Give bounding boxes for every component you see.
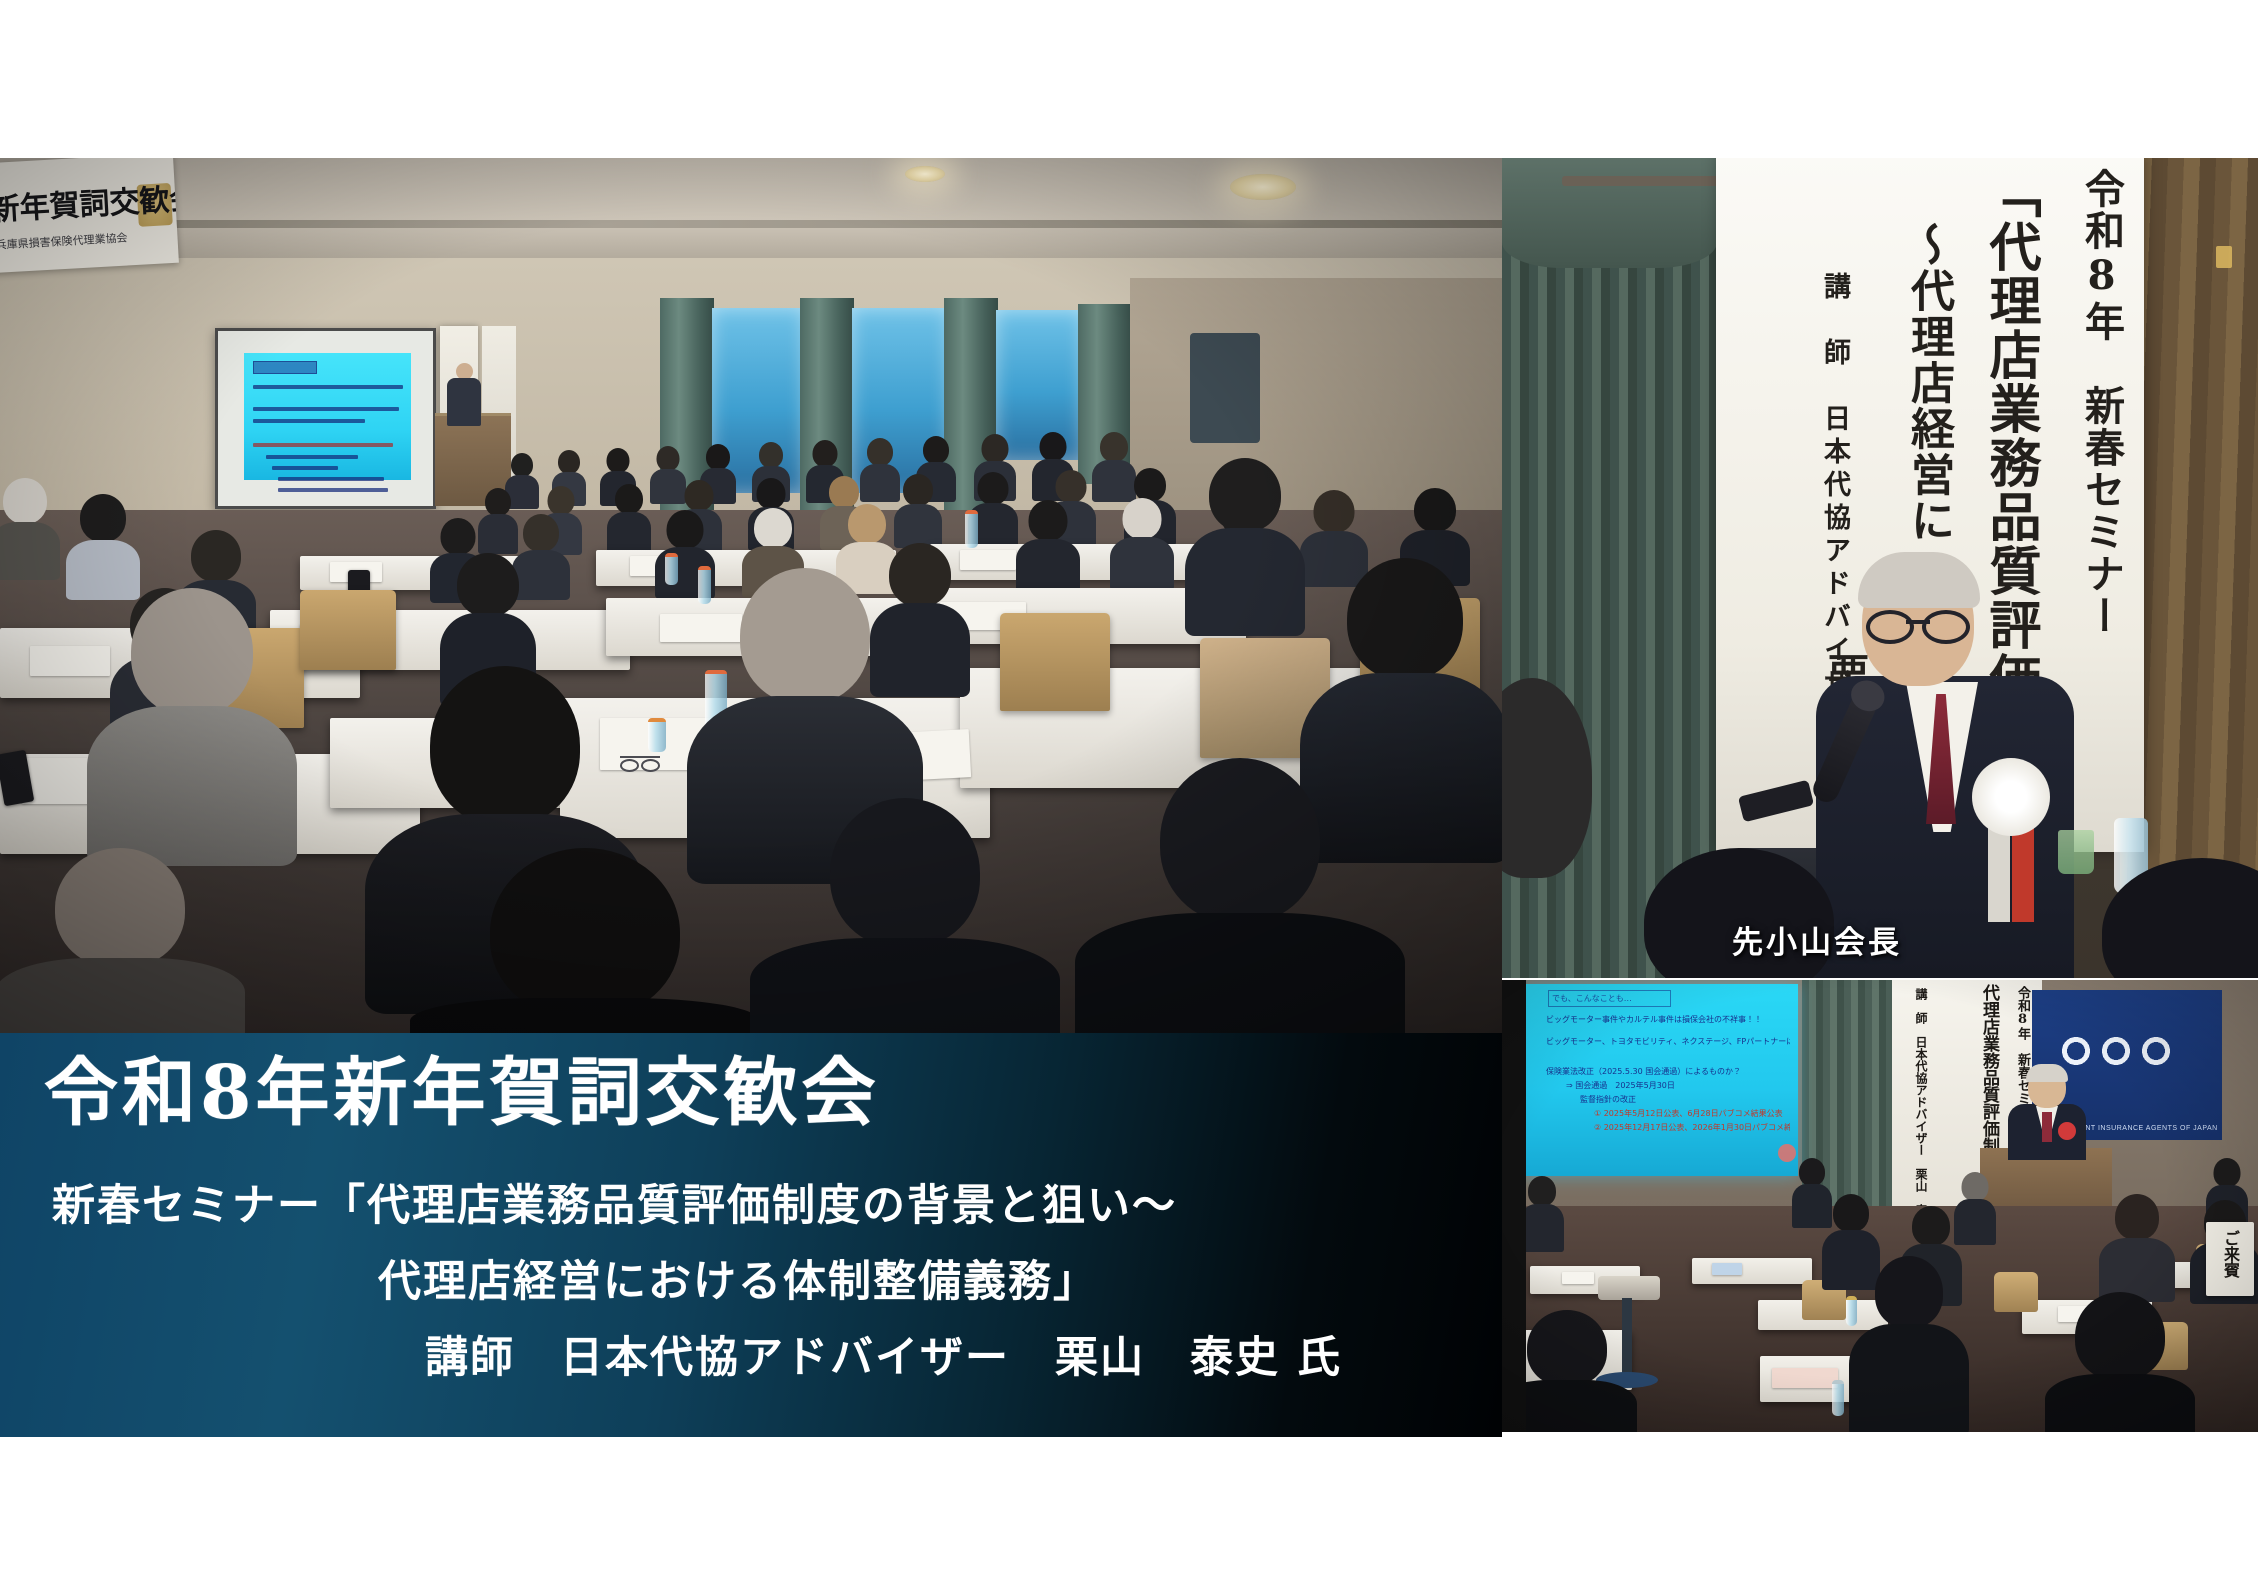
curtain-rail (1562, 176, 1732, 186)
banner-subtitle-text: 〜代理店経営に (1896, 222, 1960, 544)
drinking-glass-icon (2058, 830, 2094, 874)
ribbon-red (2012, 826, 2034, 922)
poster-canvas: 新年賀詞交歓会 兵庫県損害保険代理業協会 (0, 0, 2258, 1596)
photo-speaker-podium: 令和8年 新春セミナー 「代理店業務品質評価制度 〜代理店経営に 講 師 日本代… (1502, 158, 2258, 978)
speaker-figure (1822, 558, 2072, 978)
banner-year-text: 令和8年 新春セミナー (2072, 168, 2130, 637)
eyeglasses-icon (1866, 610, 1970, 636)
photo-caption-speaker: 先小山会長 (1732, 917, 1902, 962)
photo-seminar-room: 令和8年 新春セミナー 代理店業務品質評価制度の背景と狙い 代理店経営における体… (1502, 980, 2258, 1432)
page-title: 令和8年新年賀詞交歓会 (44, 1051, 880, 1135)
wall-ornament-icon (2216, 246, 2232, 268)
photo-seminar-hall: 新年賀詞交歓会 兵庫県損害保険代理業協会 (0, 158, 1502, 1033)
speaker-hair (1858, 552, 1980, 608)
room-vignette (1502, 980, 2258, 1432)
hall-vignette (0, 158, 1502, 1033)
panel-subtitle-line-2: 代理店経営における体制整備義務」 (378, 1256, 1098, 1308)
rosette-badge-icon (1972, 758, 2050, 836)
ribbon-white (1988, 826, 2010, 922)
title-panel: 令和8年新年賀詞交歓会 新春セミナー「代理店業務品質評価制度の背景と狙い〜 代理… (0, 1033, 1502, 1437)
panel-subtitle-line-1: 新春セミナー「代理店業務品質評価制度の背景と狙い〜 (52, 1180, 1177, 1232)
panel-subtitle-line-3: 講師 日本代協アドバイザー 栗山 泰史 氏 (425, 1332, 1342, 1384)
